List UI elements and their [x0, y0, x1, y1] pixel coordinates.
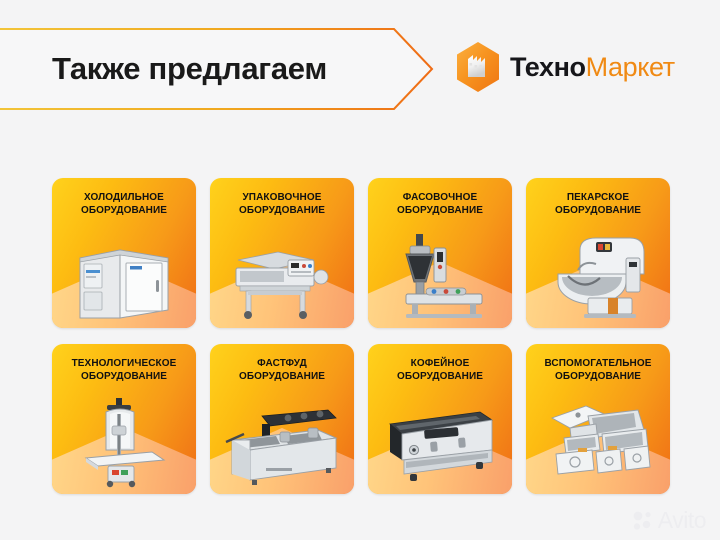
espresso-machine-icon [376, 396, 504, 488]
cold-room-icon [60, 230, 188, 322]
tile-label-line1: КОФЕЙНОЕ [374, 357, 506, 370]
brand-name-part2: Маркет [586, 52, 675, 82]
hexagon-factory-icon [455, 41, 501, 93]
avito-watermark: Avito [632, 509, 706, 532]
tile-label: ФАСТФУД ОБОРУДОВАНИЕ [216, 357, 348, 383]
tile-label-line1: ФАСОВОЧНОЕ [374, 191, 506, 204]
header-banner: Также предлагаем [0, 28, 434, 110]
tile-coffee[interactable]: КОФЕЙНОЕ ОБОРУДОВАНИЕ [368, 344, 512, 494]
tile-technological[interactable]: ТЕХНОЛОГИЧЕСКОЕ ОБОРУДОВАНИЕ [52, 344, 196, 494]
brand-logo-text: ТехноМаркет [510, 54, 675, 81]
category-tile-grid: ХОЛОДИЛЬНОЕ ОБОРУДОВАНИЕ [52, 178, 670, 494]
tile-label-line2: ОБОРУДОВАНИЕ [532, 370, 664, 383]
brand-logo[interactable]: ТехноМаркет [455, 38, 675, 96]
dough-mixer-icon [534, 230, 662, 322]
avito-wordmark: Avito [658, 509, 706, 532]
tile-label-line1: ПЕКАРСКОЕ [532, 191, 664, 204]
filling-machine-icon [376, 230, 504, 322]
page-title: Также предлагаем [52, 51, 327, 87]
deep-fryer-icon [218, 396, 346, 488]
gastronorm-pans-icon [534, 396, 662, 488]
tile-label-line1: ХОЛОДИЛЬНОЕ [58, 191, 190, 204]
tile-label-line1: ТЕХНОЛОГИЧЕСКОЕ [58, 357, 190, 370]
tile-label-line2: ОБОРУДОВАНИЕ [58, 204, 190, 217]
tile-label: КОФЕЙНОЕ ОБОРУДОВАНИЕ [374, 357, 506, 383]
tile-refrigeration[interactable]: ХОЛОДИЛЬНОЕ ОБОРУДОВАНИЕ [52, 178, 196, 328]
tile-label-line1: УПАКОВОЧНОЕ [216, 191, 348, 204]
tile-label: ВСПОМОГАТЕЛЬНОЕ ОБОРУДОВАНИЕ [532, 357, 664, 383]
tile-label-line2: ОБОРУДОВАНИЕ [216, 204, 348, 217]
tile-label-line2: ОБОРУДОВАНИЕ [532, 204, 664, 217]
tile-label-line2: ОБОРУДОВАНИЕ [374, 204, 506, 217]
brand-name-part1: Техно [510, 52, 586, 82]
tile-label: ФАСОВОЧНОЕ ОБОРУДОВАНИЕ [374, 191, 506, 217]
band-saw-icon [60, 396, 188, 488]
tile-label-line1: ВСПОМОГАТЕЛЬНОЕ [532, 357, 664, 370]
tile-portioning[interactable]: ФАСОВОЧНОЕ ОБОРУДОВАНИЕ [368, 178, 512, 328]
tile-label-line1: ФАСТФУД [216, 357, 348, 370]
tile-fastfood[interactable]: ФАСТФУД ОБОРУДОВАНИЕ [210, 344, 354, 494]
tile-label: УПАКОВОЧНОЕ ОБОРУДОВАНИЕ [216, 191, 348, 217]
shrink-wrapper-icon [218, 230, 346, 322]
tile-label-line2: ОБОРУДОВАНИЕ [58, 370, 190, 383]
tile-label-line2: ОБОРУДОВАНИЕ [216, 370, 348, 383]
tile-label-line2: ОБОРУДОВАНИЕ [374, 370, 506, 383]
tile-label: ПЕКАРСКОЕ ОБОРУДОВАНИЕ [532, 191, 664, 217]
tile-label: ХОЛОДИЛЬНОЕ ОБОРУДОВАНИЕ [58, 191, 190, 217]
tile-packaging[interactable]: УПАКОВОЧНОЕ ОБОРУДОВАНИЕ [210, 178, 354, 328]
tile-auxiliary[interactable]: ВСПОМОГАТЕЛЬНОЕ ОБОРУДОВАНИЕ [526, 344, 670, 494]
avito-dots-icon [632, 510, 654, 532]
tile-label: ТЕХНОЛОГИЧЕСКОЕ ОБОРУДОВАНИЕ [58, 357, 190, 383]
tile-bakery[interactable]: ПЕКАРСКОЕ ОБОРУДОВАНИЕ [526, 178, 670, 328]
